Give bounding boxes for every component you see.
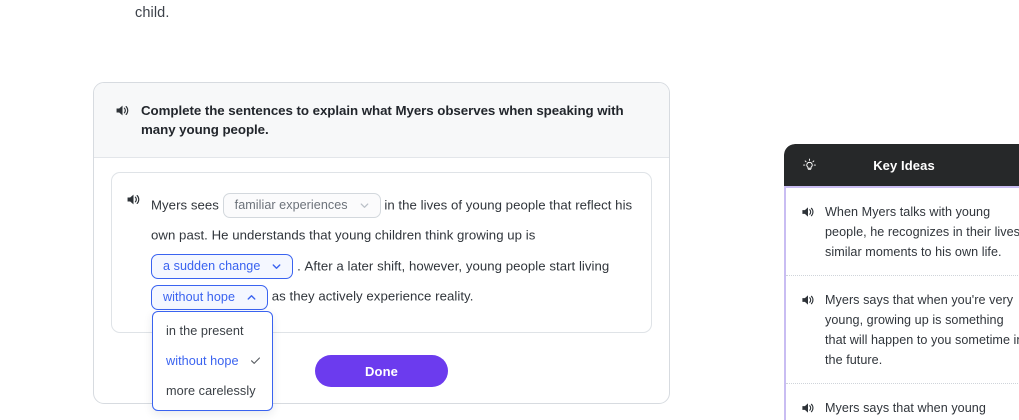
dropdown-blank-3-menu: in the present without hope <box>152 311 273 411</box>
dropdown-blank-3-wrapper: without hope in the present <box>151 282 268 312</box>
dropdown-option-label: more carelessly <box>166 376 256 406</box>
chevron-up-icon <box>245 291 258 304</box>
dropdown-blank-2-value: a sudden change <box>163 251 260 281</box>
speaker-icon[interactable] <box>800 204 817 221</box>
fill-in-sentence: Myers sees familiar experiences in the l… <box>151 190 635 312</box>
dropdown-option-label: in the present <box>166 316 244 346</box>
key-ideas-panel: Key Ideas When Myers talks with young pe… <box>784 144 1019 420</box>
key-idea-text: Myers says that when you're very young, … <box>825 290 1019 370</box>
sentence-segment-3: . <box>297 258 301 273</box>
key-idea-item: Myers says that when you're very young, … <box>786 275 1019 383</box>
passage-tail-text: child. <box>135 5 169 21</box>
key-ideas-header: Key Ideas <box>784 144 1019 186</box>
dropdown-blank-1[interactable]: familiar experiences <box>223 193 381 218</box>
key-idea-item: Myers says that when young children get … <box>786 383 1019 420</box>
sentence-panel: Myers sees familiar experiences in the l… <box>111 172 652 333</box>
exercise-body: Myers sees familiar experiences in the l… <box>94 158 669 333</box>
key-ideas-title: Key Ideas <box>818 158 990 173</box>
dropdown-option[interactable]: in the present <box>153 316 272 346</box>
dropdown-blank-3[interactable]: without hope <box>151 285 268 310</box>
chevron-down-icon <box>270 260 283 273</box>
sentence-segment-5: as they actively experience reality. <box>272 289 474 304</box>
speaker-icon[interactable] <box>114 102 131 119</box>
key-idea-text: When Myers talks with young people, he r… <box>825 202 1019 262</box>
dropdown-option[interactable]: without hope <box>153 346 272 376</box>
dropdown-blank-2[interactable]: a sudden change <box>151 254 293 279</box>
prompt-text: Complete the sentences to explain what M… <box>141 101 647 140</box>
chevron-down-icon <box>358 199 371 212</box>
exercise-card: Complete the sentences to explain what M… <box>93 82 670 404</box>
dropdown-blank-1-value: familiar experiences <box>235 190 348 220</box>
check-icon <box>250 355 261 366</box>
exercise-prompt-header: Complete the sentences to explain what M… <box>94 83 669 158</box>
lightbulb-icon <box>801 157 818 174</box>
sentence-segment-1: Myers sees <box>151 197 219 212</box>
key-idea-item: When Myers talks with young people, he r… <box>786 188 1019 275</box>
dropdown-option-label: without hope <box>166 346 239 376</box>
done-button[interactable]: Done <box>315 355 448 387</box>
key-ideas-list: When Myers talks with young people, he r… <box>784 186 1019 420</box>
key-idea-text: Myers says that when young children get … <box>825 398 1019 420</box>
sentence-segment-4: After a later shift, however, young peop… <box>305 258 610 273</box>
speaker-icon[interactable] <box>800 292 817 309</box>
dropdown-option[interactable]: more carelessly <box>153 376 272 406</box>
speaker-icon[interactable] <box>800 400 817 417</box>
dropdown-blank-3-value: without hope <box>163 282 235 312</box>
speaker-icon[interactable] <box>125 191 142 208</box>
